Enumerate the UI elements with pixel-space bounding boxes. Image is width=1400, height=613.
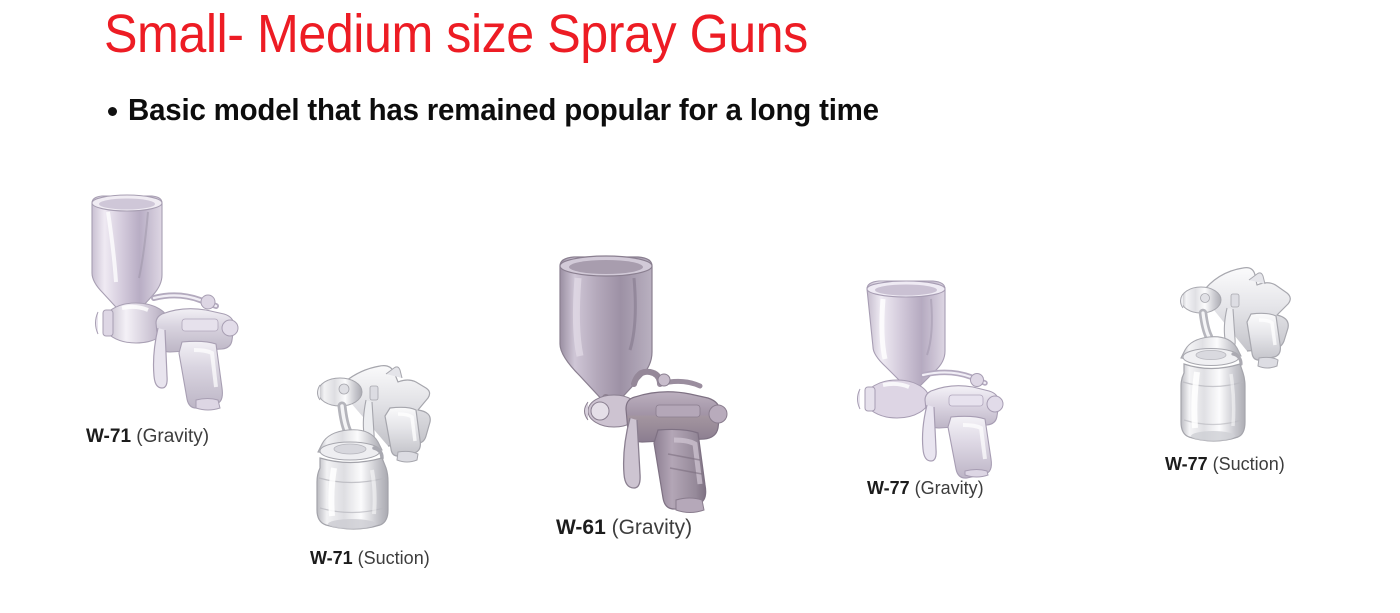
product-type: (Suction) — [358, 548, 430, 568]
product-type: (Gravity) — [915, 478, 984, 498]
product-model: W-61 — [556, 516, 606, 539]
spray-gun-gravity-icon — [548, 248, 738, 513]
product-model: W-77 — [867, 478, 910, 498]
product-type: (Gravity) — [612, 516, 693, 539]
spray-gun-suction-icon — [1165, 258, 1305, 448]
product-caption: W-71 (Gravity) — [86, 426, 209, 448]
product-type: (Gravity) — [136, 426, 209, 447]
page-title: Small- Medium size Spray Guns — [104, 2, 808, 66]
spray-gun-gravity-icon — [845, 275, 1010, 475]
bullet-dot-icon — [108, 107, 117, 116]
bullet-text: Basic model that has remained popular fo… — [128, 90, 879, 130]
product-caption: W-77 (Gravity) — [867, 478, 984, 499]
product-caption: W-61 (Gravity) — [556, 516, 692, 540]
product-caption: W-77 (Suction) — [1165, 454, 1285, 475]
product-model: W-77 — [1165, 454, 1208, 474]
product-type: (Suction) — [1213, 454, 1285, 474]
product-caption: W-71 (Suction) — [310, 548, 430, 569]
slide-canvas: Small- Medium size Spray Guns Basic mode… — [0, 0, 1400, 613]
product-model: W-71 — [310, 548, 353, 568]
spray-gun-suction-icon — [298, 348, 448, 538]
spray-gun-gravity-icon — [78, 188, 248, 413]
product-model: W-71 — [86, 426, 131, 447]
bullet-item: Basic model that has remained popular fo… — [108, 90, 918, 130]
